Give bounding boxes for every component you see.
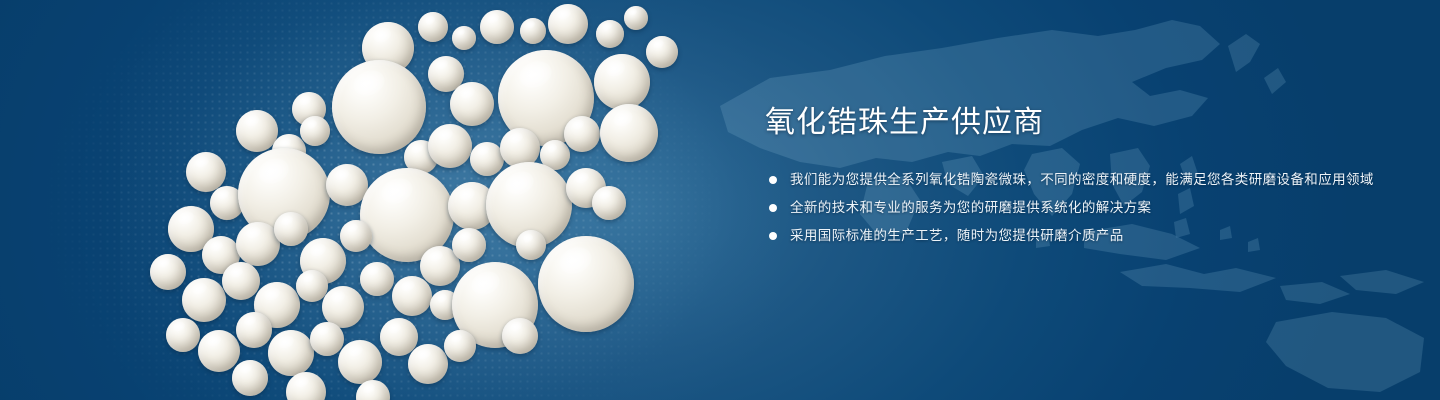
- hero-banner: 氧化锆珠生产供应商 我们能为您提供全系列氧化锆陶瓷微珠，不同的密度和硬度，能满足…: [0, 0, 1440, 400]
- feature-list: 我们能为您提供全系列氧化锆陶瓷微珠，不同的密度和硬度，能满足您各类研磨设备和应用…: [765, 168, 1385, 248]
- banner-content: 氧化锆珠生产供应商 我们能为您提供全系列氧化锆陶瓷微珠，不同的密度和硬度，能满足…: [765, 104, 1385, 252]
- list-item-text: 我们能为您提供全系列氧化锆陶瓷微珠，不同的密度和硬度，能满足您各类研磨设备和应用…: [790, 172, 1374, 187]
- bullet-dot-icon: [769, 204, 777, 212]
- list-item: 全新的技术和专业的服务为您的研磨提供系统化的解决方案: [765, 196, 1385, 220]
- list-item-text: 采用国际标准的生产工艺，随时为您提供研磨介质产品: [790, 228, 1124, 243]
- list-item-text: 全新的技术和专业的服务为您的研磨提供系统化的解决方案: [790, 200, 1151, 215]
- bullet-dot-icon: [769, 176, 777, 184]
- page-title: 氧化锆珠生产供应商: [765, 104, 1385, 142]
- list-item: 我们能为您提供全系列氧化锆陶瓷微珠，不同的密度和硬度，能满足您各类研磨设备和应用…: [765, 168, 1385, 192]
- list-item: 采用国际标准的生产工艺，随时为您提供研磨介质产品: [765, 224, 1385, 248]
- bullet-dot-icon: [769, 232, 777, 240]
